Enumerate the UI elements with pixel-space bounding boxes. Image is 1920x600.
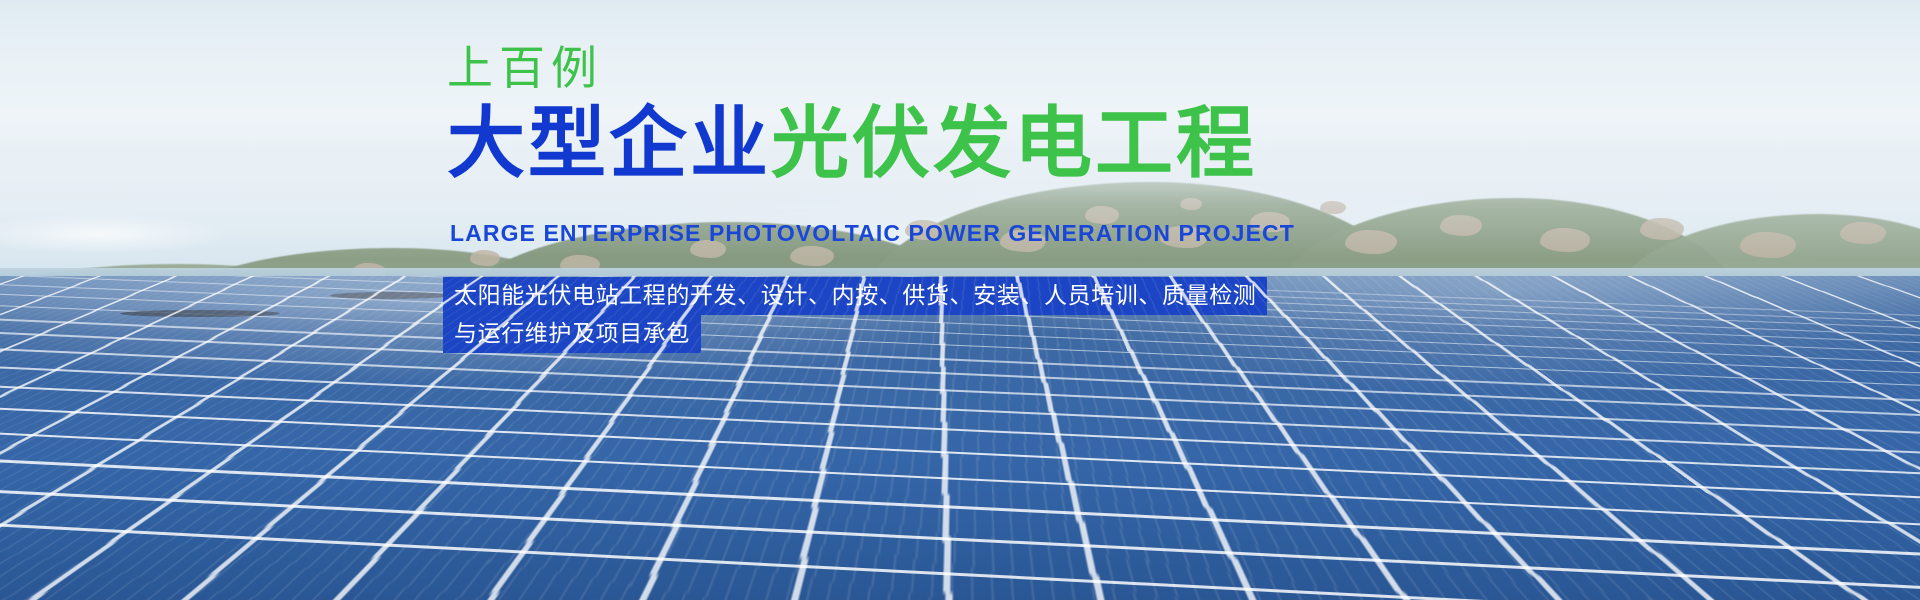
solar-panel-field — [0, 276, 1920, 600]
promotional-banner: 上百例 大型企业光伏发电工程 LARGE ENTERPRISE PHOTOVOL… — [0, 0, 1920, 600]
